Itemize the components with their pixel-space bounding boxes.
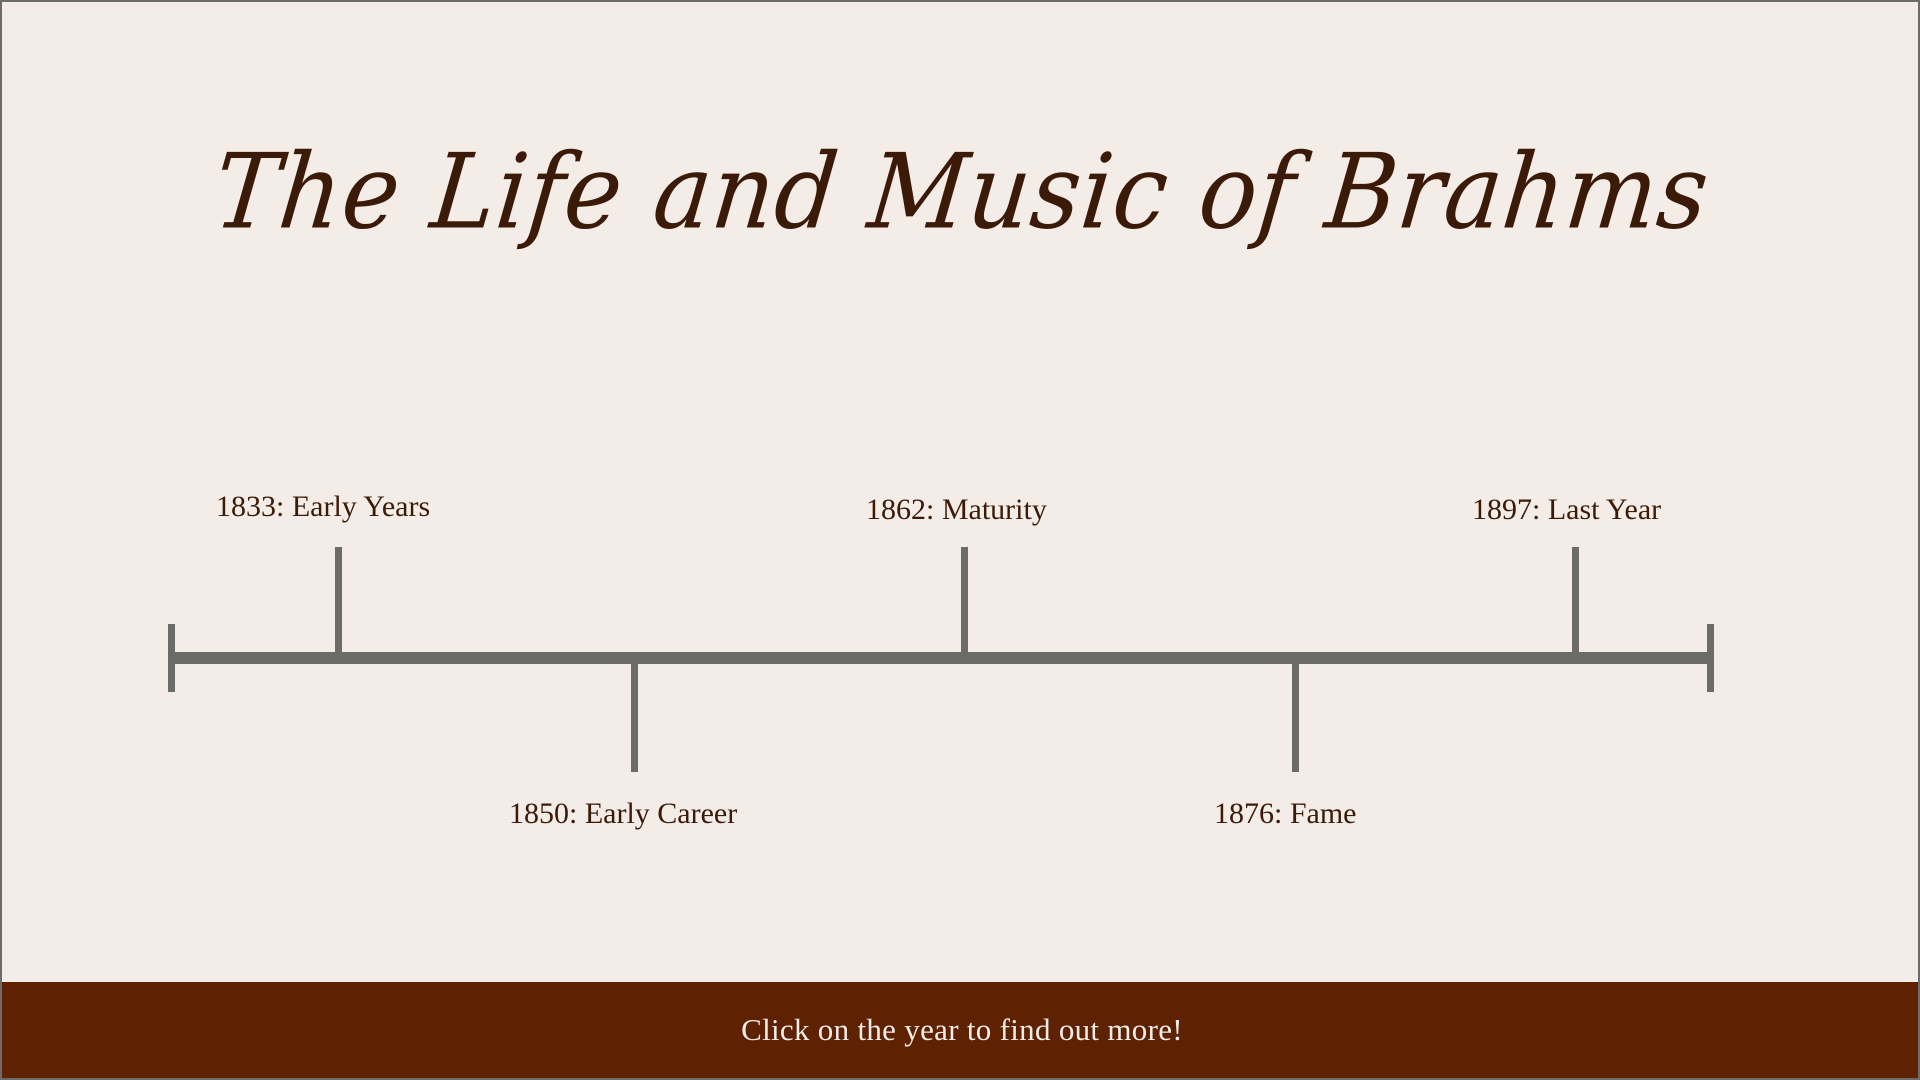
timeline-event-label-1850[interactable]: 1850: Early Career	[509, 797, 737, 830]
timeline-chart: 1833: Early Years1850: Early Career1862:…	[2, 2, 1920, 1080]
timeline-event-stem	[631, 662, 638, 772]
timeline-event-stem	[961, 547, 968, 655]
timeline-start-cap	[168, 624, 175, 692]
timeline-event-stem	[1572, 547, 1579, 655]
timeline-event-label-1897[interactable]: 1897: Last Year	[1472, 493, 1661, 526]
timeline-event-label-1876[interactable]: 1876: Fame	[1214, 797, 1357, 830]
footer-instruction-text: Click on the year to find out more!	[741, 1012, 1183, 1048]
timeline-event-stem	[335, 547, 342, 655]
timeline-page: The Life and Music of Brahms 1833: Early…	[0, 0, 1920, 1080]
timeline-axis-bar	[170, 652, 1714, 664]
footer-banner: Click on the year to find out more!	[2, 982, 1920, 1078]
timeline-event-stem	[1292, 662, 1299, 772]
timeline-event-label-1862[interactable]: 1862: Maturity	[866, 493, 1047, 526]
timeline-end-cap	[1707, 624, 1714, 692]
timeline-event-label-1833[interactable]: 1833: Early Years	[216, 490, 430, 523]
